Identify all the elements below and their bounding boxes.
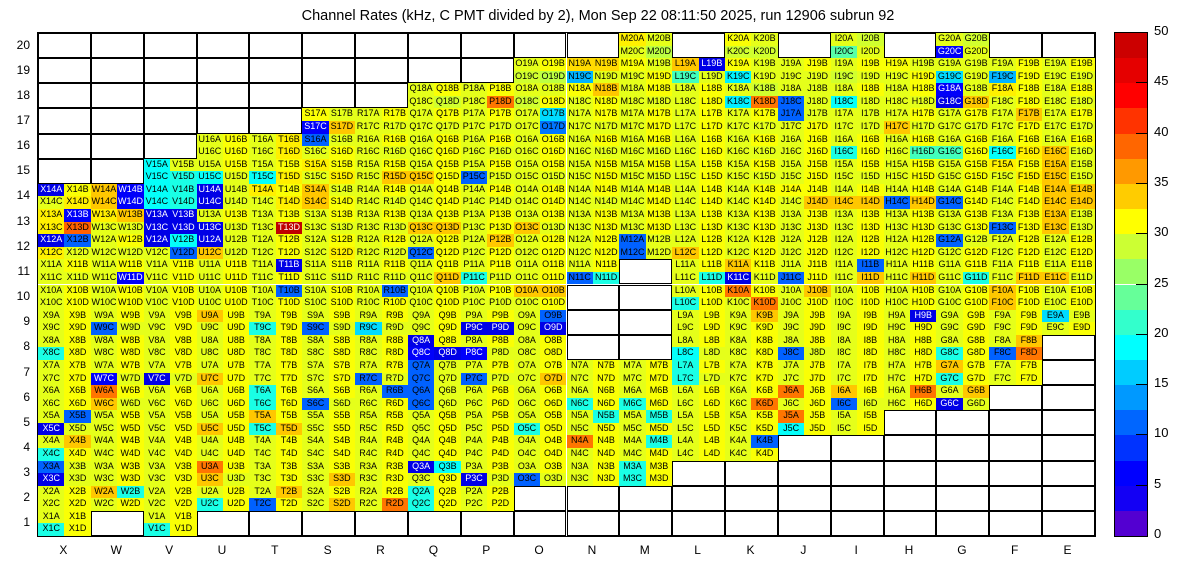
channel-I13A[interactable]: I13A [831,209,857,222]
channel-H13D[interactable]: H13D [910,222,936,235]
channel-P7D[interactable]: P7D [487,373,513,386]
channel-O3D[interactable]: O3D [540,473,566,486]
channel-W9C[interactable]: W9C [91,322,117,335]
channel-I20C[interactable]: I20C [831,46,857,59]
channel-F7D[interactable]: F7D [1016,373,1042,386]
paddle-cell[interactable]: K20AK20BK20CK20D [725,33,778,58]
paddle-cell[interactable]: U12AU12BU12CU12D [197,234,250,259]
channel-U9B[interactable]: U9B [223,310,249,323]
channel-U12C[interactable]: U12C [197,247,223,260]
paddle-cell[interactable]: G18AG18BG18CG18D [936,83,989,108]
channel-L9A[interactable]: L9A [672,310,698,323]
channel-M18D[interactable]: M18D [646,96,672,109]
channel-R16C[interactable]: R16C [355,146,381,159]
channel-L11A[interactable]: L11A [672,259,698,272]
paddle-cell[interactable]: G16AG16BG16CG16D [936,134,989,159]
paddle-cell[interactable]: R5AR5BR5CR5D [355,410,408,435]
channel-R3C[interactable]: R3C [355,473,381,486]
channel-H18D[interactable]: H18D [910,96,936,109]
paddle-cell[interactable]: J6AJ6BJ6CJ6D [778,385,831,410]
channel-V13A[interactable]: V13A [144,209,170,222]
paddle-cell[interactable]: L12AL12BL12CL12D [672,234,725,259]
paddle-cell[interactable]: Q8AQ8BQ8CQ8D [408,335,461,360]
channel-P8A[interactable]: P8A [461,335,487,348]
channel-T3A[interactable]: T3A [249,461,275,474]
channel-K14D[interactable]: K14D [751,196,777,209]
channel-N14B[interactable]: N14B [593,184,619,197]
channel-P5A[interactable]: P5A [461,410,487,423]
channel-F18B[interactable]: F18B [1016,83,1042,96]
channel-U4B[interactable]: U4B [223,435,249,448]
channel-M13D[interactable]: M13D [646,222,672,235]
paddle-cell[interactable]: G10AG10BG10CG10D [936,285,989,310]
channel-H10B[interactable]: H10B [910,285,936,298]
channel-F13B[interactable]: F13B [1016,209,1042,222]
paddle-cell[interactable]: K15AK15BK15CK15D [725,159,778,184]
paddle-cell[interactable]: P17AP17BP17CP17D [461,108,514,133]
paddle-cell[interactable]: I19AI19BI19CI19D [831,58,884,83]
channel-V14B[interactable]: V14B [170,184,196,197]
channel-Q7C[interactable]: Q7C [408,373,434,386]
channel-G16A[interactable]: G16A [936,134,962,147]
channel-G14B[interactable]: G14B [963,184,989,197]
paddle-cell[interactable]: W7AW7BW7CW7D [91,360,144,385]
channel-H15A[interactable]: H15A [884,159,910,172]
channel-E15D[interactable]: E15D [1069,171,1095,184]
channel-J10C[interactable]: J10C [778,297,804,310]
channel-S7D[interactable]: S7D [329,373,355,386]
channel-L17B[interactable]: L17B [699,108,725,121]
channel-M15C[interactable]: M15C [619,171,645,184]
channel-X7D[interactable]: X7D [64,373,90,386]
channel-X13D[interactable]: X13D [64,222,90,235]
paddle-cell[interactable]: V6AV6BV6CV6D [144,385,197,410]
channel-N11B[interactable]: N11B [593,259,619,272]
channel-J9B[interactable]: J9B [804,310,830,323]
paddle-cell[interactable]: Q15AQ15BQ15CQ15D [408,159,461,184]
paddle-cell[interactable]: U5AU5BU5CU5D [197,410,250,435]
channel-O9D[interactable]: O9D [540,322,566,335]
channel-E18A[interactable]: E18A [1042,83,1068,96]
channel-O7A[interactable]: O7A [514,360,540,373]
channel-V5A[interactable]: V5A [144,410,170,423]
paddle-cell[interactable]: I18AI18BI18CI18D [831,83,884,108]
paddle-cell[interactable]: L17AL17BL17CL17D [672,108,725,133]
channel-O14B[interactable]: O14B [540,184,566,197]
paddle-cell[interactable]: R3AR3BR3CR3D [355,461,408,486]
paddle-cell[interactable]: E18AE18BE18CE18D [1042,83,1095,108]
channel-I16A[interactable]: I16A [831,134,857,147]
channel-V4C[interactable]: V4C [144,448,170,461]
channel-T5B[interactable]: T5B [276,410,302,423]
paddle-cell[interactable]: X2AX2BX2CX2D [38,486,91,511]
channel-K18C[interactable]: K18C [725,96,751,109]
channel-M13B[interactable]: M13B [646,209,672,222]
channel-G10C[interactable]: G10C [936,297,962,310]
channel-E12D[interactable]: E12D [1069,247,1095,260]
paddle-cell[interactable]: K7AK7BK7CK7D [725,360,778,385]
paddle-cell[interactable]: R7AR7BR7CR7D [355,360,408,385]
paddle-cell[interactable]: N19AN19BN19CN19D [567,58,620,83]
channel-Q5C[interactable]: Q5C [408,423,434,436]
channel-O3B[interactable]: O3B [540,461,566,474]
channel-F19A[interactable]: F19A [989,58,1015,71]
channel-M5B[interactable]: M5B [646,410,672,423]
channel-O11B[interactable]: O11B [540,259,566,272]
channel-U15B[interactable]: U15B [223,159,249,172]
channel-Q7B[interactable]: Q7B [434,360,460,373]
channel-O13B[interactable]: O13B [540,209,566,222]
channel-K15A[interactable]: K15A [725,159,751,172]
channel-T5C[interactable]: T5C [249,423,275,436]
channel-L7A[interactable]: L7A [672,360,698,373]
channel-Q18B[interactable]: Q18B [434,83,460,96]
channel-N16A[interactable]: N16A [567,134,593,147]
paddle-cell[interactable]: O4AO4BO4CO4D [514,435,567,460]
channel-S16C[interactable]: S16C [302,146,328,159]
channel-O10C[interactable]: O10C [514,297,540,310]
channel-Q2B[interactable]: Q2B [434,486,460,499]
paddle-cell[interactable]: U11AU11BU11CU11D [197,259,250,284]
paddle-cell[interactable]: U8AU8BU8CU8D [197,335,250,360]
channel-S10B[interactable]: S10B [329,285,355,298]
channel-L7B[interactable]: L7B [699,360,725,373]
paddle-cell[interactable]: P14AP14BP14CP14D [461,184,514,209]
channel-R6B[interactable]: R6B [382,385,408,398]
channel-E19B[interactable]: E19B [1069,58,1095,71]
channel-X7C[interactable]: X7C [38,373,64,386]
channel-S9A[interactable]: S9A [302,310,328,323]
channel-M5A[interactable]: M5A [619,410,645,423]
channel-M16A[interactable]: M16A [619,134,645,147]
channel-L19C[interactable]: L19C [672,71,698,84]
channel-M17D[interactable]: M17D [646,121,672,134]
channel-M6B[interactable]: M6B [646,385,672,398]
channel-K11B[interactable]: K11B [751,259,777,272]
channel-Q12C[interactable]: Q12C [408,247,434,260]
channel-I19B[interactable]: I19B [857,58,883,71]
paddle-cell[interactable]: P10AP10BP10CP10D [461,285,514,310]
channel-X2B[interactable]: X2B [64,486,90,499]
channel-E15B[interactable]: E15B [1069,159,1095,172]
paddle-cell[interactable]: S4AS4BS4CS4D [302,435,355,460]
channel-T15A[interactable]: T15A [249,159,275,172]
channel-S13A[interactable]: S13A [302,209,328,222]
channel-X10D[interactable]: X10D [64,297,90,310]
channel-G20A[interactable]: G20A [936,33,962,46]
channel-W7D[interactable]: W7D [117,373,143,386]
channel-K16B[interactable]: K16B [751,134,777,147]
channel-X14C[interactable]: X14C [38,196,64,209]
channel-L14D[interactable]: L14D [699,196,725,209]
channel-L16C[interactable]: L16C [672,146,698,159]
channel-G19D[interactable]: G19D [963,71,989,84]
channel-R2C[interactable]: R2C [355,498,381,511]
channel-X3D[interactable]: X3D [64,473,90,486]
channel-I8D[interactable]: I8D [857,347,883,360]
channel-O9C[interactable]: O9C [514,322,540,335]
paddle-cell[interactable]: E19AE19BE19CE19D [1042,58,1095,83]
channel-W6C[interactable]: W6C [91,398,117,411]
channel-M5C[interactable]: M5C [619,423,645,436]
channel-H19B[interactable]: H19B [910,58,936,71]
channel-S17B[interactable]: S17B [329,108,355,121]
channel-V4B[interactable]: V4B [170,435,196,448]
paddle-cell[interactable]: G12AG12BG12CG12D [936,234,989,259]
channel-M5D[interactable]: M5D [646,423,672,436]
channel-P3B[interactable]: P3B [487,461,513,474]
paddle-cell[interactable]: G17AG17BG17CG17D [936,108,989,133]
channel-W2A[interactable]: W2A [91,486,117,499]
channel-R6A[interactable]: R6A [355,385,381,398]
channel-U9A[interactable]: U9A [197,310,223,323]
channel-O15B[interactable]: O15B [540,159,566,172]
channel-H16C[interactable]: H16C [884,146,910,159]
channel-M12D[interactable]: M12D [646,247,672,260]
paddle-cell[interactable]: L5AL5BL5CL5D [672,410,725,435]
channel-E19C[interactable]: E19C [1042,71,1068,84]
channel-K14A[interactable]: K14A [725,184,751,197]
paddle-cell[interactable]: G14AG14BG14CG14D [936,184,989,209]
channel-L12D[interactable]: L12D [699,247,725,260]
channel-L11C[interactable]: L11C [672,272,698,285]
channel-V5B[interactable]: V5B [170,410,196,423]
paddle-cell[interactable]: S13AS13BS13CS13D [302,209,355,234]
paddle-cell[interactable]: M4AM4BM4CM4D [619,435,672,460]
paddle-cell[interactable]: E16AE16BE16CE16D [1042,134,1095,159]
channel-O5C[interactable]: O5C [514,423,540,436]
paddle-cell[interactable]: U2AU2BU2CU2D [197,486,250,511]
channel-N16C[interactable]: N16C [567,146,593,159]
channel-R3D[interactable]: R3D [382,473,408,486]
channel-K6B[interactable]: K6B [751,385,777,398]
paddle-cell[interactable]: J17AJ17BJ17CJ17D [778,108,831,133]
channel-J18C[interactable]: J18C [778,96,804,109]
paddle-cell[interactable]: O6AO6BO6CO6D [514,385,567,410]
channel-U15D[interactable]: U15D [223,171,249,184]
channel-J17C[interactable]: J17C [778,121,804,134]
channel-H19C[interactable]: H19C [884,71,910,84]
channel-P14C[interactable]: P14C [461,196,487,209]
channel-P12B[interactable]: P12B [487,234,513,247]
channel-T10B[interactable]: T10B [276,285,302,298]
channel-K10D[interactable]: K10D [751,297,777,310]
paddle-cell[interactable]: V14AV14BV14CV14D [144,184,197,209]
channel-U3D[interactable]: U3D [223,473,249,486]
channel-I17C[interactable]: I17C [831,121,857,134]
channel-M6A[interactable]: M6A [619,385,645,398]
paddle-cell[interactable]: T14AT14BT14CT14D [249,184,302,209]
channel-M12A[interactable]: M12A [619,234,645,247]
channel-L6C[interactable]: L6C [672,398,698,411]
channel-M6D[interactable]: M6D [646,398,672,411]
channel-Q18A[interactable]: Q18A [408,83,434,96]
channel-T6C[interactable]: T6C [249,398,275,411]
channel-P13D[interactable]: P13D [487,222,513,235]
channel-X6C[interactable]: X6C [38,398,64,411]
paddle-cell[interactable]: I17AI17BI17CI17D [831,108,884,133]
paddle-cell[interactable]: X8AX8BX8CX8D [38,335,91,360]
channel-G14D[interactable]: G14D [963,196,989,209]
channel-N17B[interactable]: N17B [593,108,619,121]
channel-V8C[interactable]: V8C [144,347,170,360]
channel-N3C[interactable]: N3C [567,473,593,486]
channel-M19C[interactable]: M19C [619,71,645,84]
paddle-cell[interactable]: O7AO7BO7CO7D [514,360,567,385]
channel-P2B[interactable]: P2B [487,486,513,499]
channel-R12D[interactable]: R12D [382,247,408,260]
channel-F17C[interactable]: F17C [989,121,1015,134]
channel-X11A[interactable]: X11A [38,259,64,272]
channel-H7A[interactable]: H7A [884,360,910,373]
channel-P15B[interactable]: P15B [487,159,513,172]
channel-X5C[interactable]: X5C [38,423,64,436]
channel-U4A[interactable]: U4A [197,435,223,448]
channel-P14A[interactable]: P14A [461,184,487,197]
channel-R10B[interactable]: R10B [382,285,408,298]
paddle-cell[interactable]: V15AV15BV15CV15D [144,159,197,184]
channel-O18C[interactable]: O18C [514,96,540,109]
channel-E9B[interactable]: E9B [1069,310,1095,323]
channel-I8C[interactable]: I8C [831,347,857,360]
paddle-cell[interactable]: U16AU16BU16CU16D [197,134,250,159]
channel-G8A[interactable]: G8A [936,335,962,348]
paddle-cell[interactable]: G19AG19BG19CG19D [936,58,989,83]
channel-F7A[interactable]: F7A [989,360,1015,373]
channel-T7B[interactable]: T7B [276,360,302,373]
channel-O14D[interactable]: O14D [540,196,566,209]
channel-G19C[interactable]: G19C [936,71,962,84]
channel-V15A[interactable]: V15A [144,159,170,172]
paddle-cell[interactable]: H9AH9BH9CH9D [884,310,937,335]
channel-H12B[interactable]: H12B [910,234,936,247]
channel-X10A[interactable]: X10A [38,285,64,298]
channel-G9A[interactable]: G9A [936,310,962,323]
channel-M20D[interactable]: M20D [646,46,672,59]
channel-R17B[interactable]: R17B [382,108,408,121]
channel-I10D[interactable]: I10D [857,297,883,310]
channel-H11D[interactable]: H11D [910,272,936,285]
channel-L14B[interactable]: L14B [699,184,725,197]
channel-Q12A[interactable]: Q12A [408,234,434,247]
paddle-cell[interactable]: Q6AQ6BQ6CQ6D [408,385,461,410]
paddle-cell[interactable]: X1AX1BX1CX1D [38,511,91,536]
channel-T8A[interactable]: T8A [249,335,275,348]
channel-F10C[interactable]: F10C [989,297,1015,310]
channel-G7A[interactable]: G7A [936,360,962,373]
channel-X5B[interactable]: X5B [64,410,90,423]
channel-T16D[interactable]: T16D [276,146,302,159]
channel-P4A[interactable]: P4A [461,435,487,448]
paddle-cell[interactable]: P3AP3BP3CP3D [461,461,514,486]
channel-F8D[interactable]: F8D [1016,347,1042,360]
paddle-cell[interactable]: O16AO16BO16CO16D [514,134,567,159]
channel-X14D[interactable]: X14D [64,196,90,209]
channel-W9B[interactable]: W9B [117,310,143,323]
channel-K12A[interactable]: K12A [725,234,751,247]
channel-J17B[interactable]: J17B [804,108,830,121]
channel-O8A[interactable]: O8A [514,335,540,348]
channel-I12A[interactable]: I12A [831,234,857,247]
channel-K10B[interactable]: K10B [751,285,777,298]
paddle-cell[interactable]: M20AM20BM20CM20D [619,33,672,58]
channel-J15B[interactable]: J15B [804,159,830,172]
channel-K8B[interactable]: K8B [751,335,777,348]
channel-N14C[interactable]: N14C [567,196,593,209]
channel-F12D[interactable]: F12D [1016,247,1042,260]
paddle-cell[interactable]: X6AX6BX6CX6D [38,385,91,410]
channel-O4A[interactable]: O4A [514,435,540,448]
channel-J14A[interactable]: J14A [778,184,804,197]
channel-F12A[interactable]: F12A [989,234,1015,247]
channel-V8A[interactable]: V8A [144,335,170,348]
paddle-cell[interactable]: U7AU7BU7CU7D [197,360,250,385]
channel-U3C[interactable]: U3C [197,473,223,486]
paddle-cell[interactable]: K4AK4BK4CK4D [725,435,778,460]
channel-T10D[interactable]: T10D [276,297,302,310]
channel-W2D[interactable]: W2D [117,498,143,511]
channel-O6C[interactable]: O6C [514,398,540,411]
channel-K7D[interactable]: K7D [751,373,777,386]
channel-H8D[interactable]: H8D [910,347,936,360]
channel-H12D[interactable]: H12D [910,247,936,260]
channel-S9D[interactable]: S9D [329,322,355,335]
channel-K18B[interactable]: K18B [751,83,777,96]
channel-U2A[interactable]: U2A [197,486,223,499]
paddle-cell[interactable]: V5AV5BV5CV5D [144,410,197,435]
channel-S6A[interactable]: S6A [302,385,328,398]
channel-T4B[interactable]: T4B [276,435,302,448]
channel-R16D[interactable]: R16D [382,146,408,159]
channel-N3D[interactable]: N3D [593,473,619,486]
channel-G7B[interactable]: G7B [963,360,989,373]
channel-Q3A[interactable]: Q3A [408,461,434,474]
channel-G20D[interactable]: G20D [963,46,989,59]
channel-V7C[interactable]: V7C [144,373,170,386]
channel-O15C[interactable]: O15C [514,171,540,184]
channel-S17D[interactable]: S17D [329,121,355,134]
channel-H10C[interactable]: H10C [884,297,910,310]
channel-E18C[interactable]: E18C [1042,96,1068,109]
channel-T16A[interactable]: T16A [249,134,275,147]
channel-K16D[interactable]: K16D [751,146,777,159]
channel-S5A[interactable]: S5A [302,410,328,423]
channel-R5A[interactable]: R5A [355,410,381,423]
paddle-cell[interactable]: Q7AQ7BQ7CQ7D [408,360,461,385]
channel-W4D[interactable]: W4D [117,448,143,461]
channel-J9C[interactable]: J9C [778,322,804,335]
paddle-cell[interactable]: I13AI13BI13CI13D [831,209,884,234]
channel-U6A[interactable]: U6A [197,385,223,398]
paddle-cell[interactable]: L16AL16BL16CL16D [672,134,725,159]
channel-T7C[interactable]: T7C [249,373,275,386]
channel-H6B[interactable]: H6B [910,385,936,398]
channel-S14C[interactable]: S14C [302,196,328,209]
channel-J19A[interactable]: J19A [778,58,804,71]
channel-O12B[interactable]: O12B [540,234,566,247]
paddle-cell[interactable]: O17AO17BO17CO17D [514,108,567,133]
channel-G19A[interactable]: G19A [936,58,962,71]
channel-M19D[interactable]: M19D [646,71,672,84]
channel-O9A[interactable]: O9A [514,310,540,323]
channel-J14D[interactable]: J14D [804,196,830,209]
channel-F11D[interactable]: F11D [1016,272,1042,285]
channel-P8D[interactable]: P8D [487,347,513,360]
channel-P3A[interactable]: P3A [461,461,487,474]
channel-J10D[interactable]: J10D [804,297,830,310]
channel-T6D[interactable]: T6D [276,398,302,411]
channel-G16C[interactable]: G16C [936,146,962,159]
